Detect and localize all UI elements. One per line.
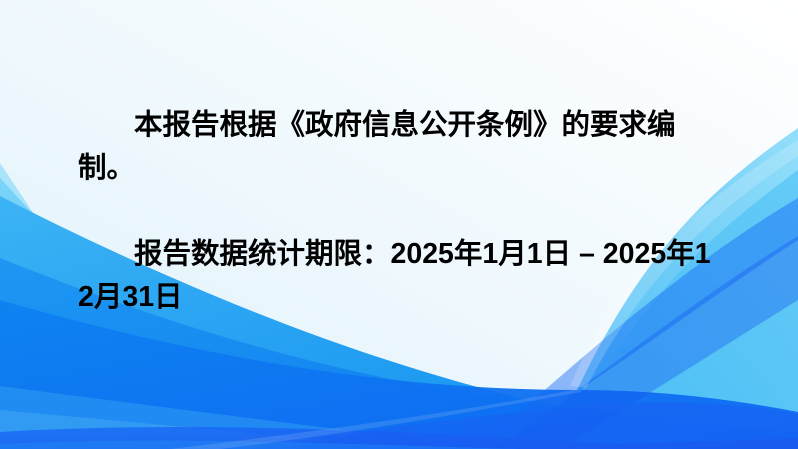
slide-content-layer: 本报告根据《政府信息公开条例》的要求编制。 报告数据统计期限：2025年1月1日… bbox=[0, 0, 798, 449]
body-text-block[interactable]: 本报告根据《政府信息公开条例》的要求编制。 报告数据统计期限：2025年1月1日… bbox=[78, 104, 726, 319]
presentation-slide: 本报告根据《政府信息公开条例》的要求编制。 报告数据统计期限：2025年1月1日… bbox=[0, 0, 798, 449]
paragraph-statement: 本报告根据《政府信息公开条例》的要求编制。 bbox=[78, 104, 726, 190]
paragraph-reporting-period: 报告数据统计期限：2025年1月1日 – 2025年12月31日 bbox=[78, 233, 726, 319]
paragraph-spacer bbox=[78, 190, 726, 233]
